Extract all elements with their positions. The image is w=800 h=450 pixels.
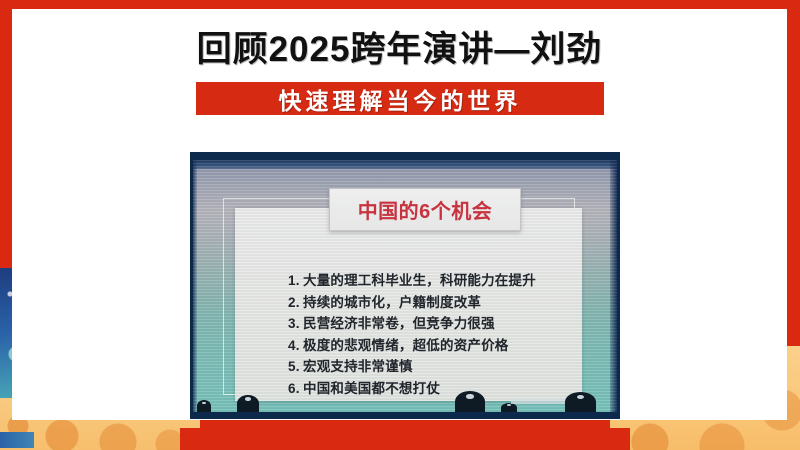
list-item-number: 1. bbox=[288, 270, 303, 292]
list-item-number: 4. bbox=[288, 335, 303, 357]
content-card: 回顾2025跨年演讲—刘劲 快速理解当今的世界 中国的6个机会 1.大量的理工科… bbox=[12, 9, 787, 420]
list-item-number: 3. bbox=[288, 313, 303, 335]
list-item: 1.大量的理工科毕业生，科研能力在提升 bbox=[288, 270, 536, 292]
list-item-text: 民营经济非常卷，但竞争力很强 bbox=[303, 316, 495, 331]
audience-silhouette bbox=[501, 403, 517, 412]
list-item-text: 极度的悲观情绪，超低的资产价格 bbox=[303, 338, 509, 353]
list-item-text: 中国和美国都不想打仗 bbox=[303, 381, 440, 396]
list-item: 2.持续的城市化，户籍制度改革 bbox=[288, 292, 536, 314]
red-bottom-band bbox=[180, 428, 630, 450]
list-item-text: 宏观支持非常谨慎 bbox=[303, 359, 413, 374]
presentation-photo: 中国的6个机会 1.大量的理工科毕业生，科研能力在提升 2.持续的城市化，户籍制… bbox=[190, 152, 620, 419]
poster-frame: 回顾2025跨年演讲—刘劲 快速理解当今的世界 中国的6个机会 1.大量的理工科… bbox=[0, 0, 800, 450]
list-item: 5.宏观支持非常谨慎 bbox=[288, 356, 536, 378]
audience-silhouette bbox=[565, 392, 596, 412]
page-title: 回顾2025跨年演讲—刘劲 bbox=[12, 21, 787, 72]
list-item: 3.民营经济非常卷，但竞争力很强 bbox=[288, 313, 536, 335]
slide-title-plaque: 中国的6个机会 bbox=[329, 188, 521, 231]
list-item-number: 6. bbox=[288, 378, 303, 400]
audience-silhouette bbox=[197, 400, 211, 412]
blue-accent-decoration bbox=[0, 432, 34, 448]
slide-title-text: 中国的6个机会 bbox=[358, 195, 493, 224]
list-item: 6.中国和美国都不想打仗 bbox=[288, 378, 536, 400]
screen-left-bezel bbox=[193, 160, 197, 412]
list-item: 4.极度的悲观情绪，超低的资产价格 bbox=[288, 335, 536, 357]
list-item-text: 大量的理工科毕业生，科研能力在提升 bbox=[303, 273, 536, 288]
subtitle-text: 快速理解当今的世界 bbox=[279, 82, 522, 116]
subtitle-banner: 快速理解当今的世界 bbox=[196, 82, 604, 115]
audience-silhouette bbox=[237, 395, 259, 412]
list-item-number: 5. bbox=[288, 356, 303, 378]
projection-screen: 中国的6个机会 1.大量的理工科毕业生，科研能力在提升 2.持续的城市化，户籍制… bbox=[193, 160, 617, 412]
list-item-text: 持续的城市化，户籍制度改革 bbox=[303, 295, 481, 310]
list-item-number: 2. bbox=[288, 292, 303, 314]
screen-top-bezel bbox=[193, 160, 617, 169]
screen-right-bezel bbox=[610, 160, 617, 412]
slide-opportunity-list: 1.大量的理工科毕业生，科研能力在提升 2.持续的城市化，户籍制度改革 3.民营… bbox=[288, 270, 536, 399]
